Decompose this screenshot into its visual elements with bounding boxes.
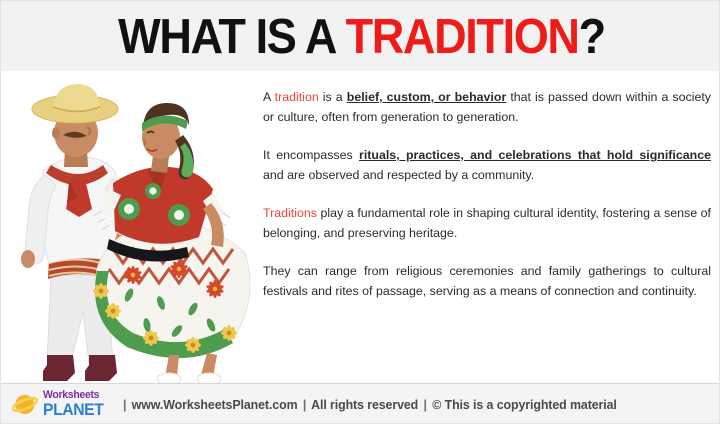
p4-part-a: They can range from religious ceremonies… (263, 264, 711, 298)
footer-separator-3: | (421, 398, 428, 412)
footer-copyright: © This is a copyrighted material (432, 398, 617, 412)
dancers-svg (1, 63, 259, 383)
planet-icon (12, 391, 39, 418)
p2-part-a: It encompasses (263, 148, 359, 162)
title-part-black-1: WHAT IS A (118, 10, 345, 64)
p1-part-b: is a (319, 90, 347, 104)
p1-red-word: tradition (275, 90, 319, 104)
page-header: WHAT IS A TRADITION? (1, 1, 720, 71)
paragraph-3: Traditions play a fundamental role in sh… (263, 203, 711, 243)
paragraph-4: They can range from religious ceremonies… (263, 261, 711, 301)
logo-planet: PLANET (43, 402, 103, 419)
p1-part-a: A (263, 90, 275, 104)
footer-separator-1: | (121, 398, 128, 412)
worksheets-planet-logo[interactable]: Worksheets PLANET (12, 390, 107, 419)
paragraph-1: A tradition is a belief, custom, or beha… (263, 87, 711, 127)
footer-separator-2: | (300, 398, 307, 412)
logo-wordmark: Worksheets PLANET (43, 390, 103, 419)
worksheet-page: WHAT IS A TRADITION? (0, 0, 720, 424)
page-footer: Worksheets PLANET | www.WorksheetsPlanet… (1, 384, 720, 424)
body-text: A tradition is a belief, custom, or beha… (263, 87, 711, 301)
dancers-illustration (1, 63, 259, 383)
footer-rights: All rights reserved (311, 398, 418, 412)
p3-part-a: play a fundamental role in shaping cultu… (263, 206, 711, 240)
p3-red-word: Traditions (263, 206, 317, 220)
logo-worksheets: Worksheets (43, 390, 103, 401)
footer-credit-line: | www.WorksheetsPlanet.com | All rights … (121, 398, 617, 412)
paragraph-2: It encompasses rituals, practices, and c… (263, 145, 711, 185)
title-part-black-2: ? (578, 10, 604, 64)
page-title: WHAT IS A TRADITION? (118, 13, 605, 62)
footer-website[interactable]: www.WorksheetsPlanet.com (131, 398, 297, 412)
title-part-red: TRADITION (345, 10, 578, 64)
p1-emphasis: belief, custom, or behavior (347, 90, 507, 104)
p2-emphasis: rituals, practices, and celebrations tha… (359, 148, 711, 162)
p2-part-b: and are observed and respected by a comm… (263, 168, 534, 182)
